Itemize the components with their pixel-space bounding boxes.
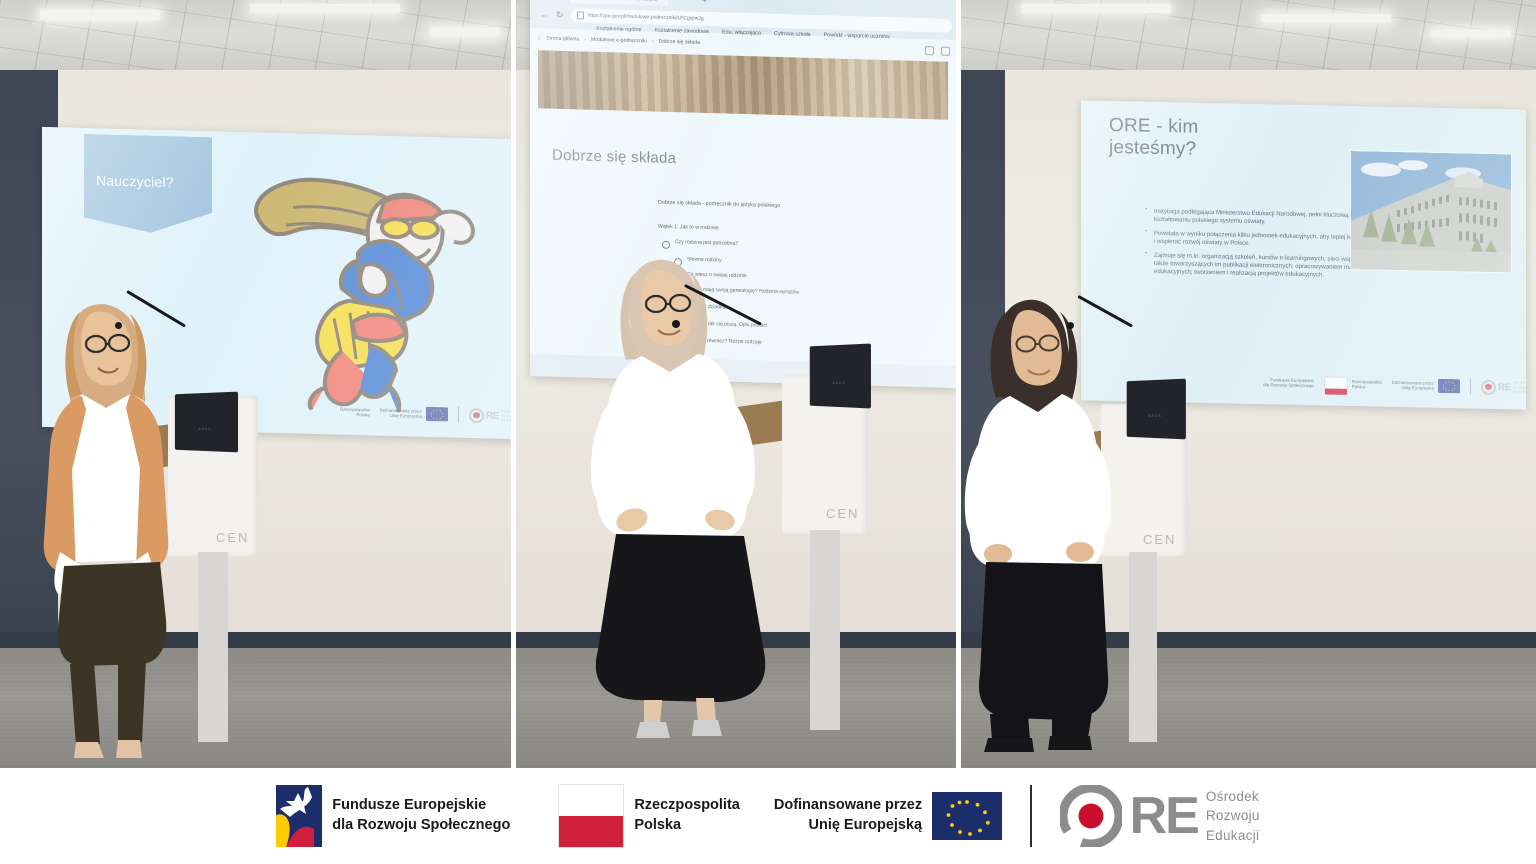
collage-stage: Nauczyciel? [0,0,1536,864]
ceiling [961,0,1536,78]
slide-title: Nauczyciel? [96,172,174,190]
ue-label: Dofinansowane przez Unię Europejską [774,796,922,835]
footer-logo-bar: Fundusze Europejskie dla Rozwoju Społecz… [0,768,1536,864]
poland-flag-icon [1324,376,1348,392]
panel-2: Zintegrowana Platforma Edukacyjna × + ← … [516,0,956,768]
back-icon[interactable]: ← [540,9,549,19]
logo-ore: RE Ośrodek Rozwoju Edukacji [1060,785,1260,847]
breadcrumb-home[interactable]: Strona główna [546,36,579,43]
reload-icon[interactable]: ↻ [556,9,564,20]
poland-flag-icon [558,784,624,848]
panel-1: Nauczyciel? [0,0,511,768]
tab-title: Zintegrowana Platforma Edukacyjna [583,0,657,2]
panel-3: ORE - kim jesteśmy? Instytucja podlegają… [961,0,1536,768]
section-heading: Wątek 1. Jak to w rodzinie [658,224,719,232]
ore-subtitle: Ośrodek Rozwoju Edukacji [1206,787,1260,846]
superhero-teacher-icon [238,158,478,414]
breadcrumb-current: Dobrze się składa [659,39,700,46]
bullet-3: Zajmuje się m.in. organizacją szkoleń, k… [1145,252,1385,280]
bullet-1: Instytucja podlegająca Ministerstwu Eduk… [1145,208,1385,228]
ore-wordmark: RE [1130,790,1198,842]
logo-rzeczpospolita-polska: Rzeczpospolita Polska [558,784,740,848]
page-title: Dobrze się składa [552,147,676,167]
lock-icon [577,11,584,19]
photo-collage: Nauczyciel? [0,0,1536,768]
ore-logo-icon: RE OśrodekRozwojuEdukacji [469,407,511,423]
eu-flag-icon [1438,379,1460,393]
footer-divider [1030,785,1032,847]
nav-item-powodz[interactable]: Powódź - wsparcie uczniów [824,32,890,54]
ceiling [0,0,511,78]
hero-banner-books [538,50,948,119]
fundusze-label: Fundusze Europejskie dla Rozwoju Społecz… [332,796,510,835]
slide-title: ORE - kim jesteśmy? [1109,115,1289,164]
eu-flag-icon [932,792,1002,840]
star-icon[interactable] [925,46,934,55]
ore-mark-icon [1060,785,1122,847]
ore-building-photo [1350,150,1512,273]
slide-bullets: Instytucja podlegająca Ministerstwu Eduk… [1105,207,1385,287]
fundusze-europejskie-flag-icon [276,785,322,847]
nav-item-edu-wlaczajaca[interactable]: Edu. włączająca [722,29,761,50]
page-lead: Dobrze się składa - podręcznik do języka… [658,200,780,209]
ore-logo-icon: RE OśrodekRozwojuEdukacji [1481,379,1526,395]
bullet-2: Powstała w wyniku połączenia kilku jedno… [1145,230,1385,250]
extensions-icon[interactable] [941,47,950,56]
logo-fundusze-europejskie: Fundusze Europejskie dla Rozwoju Społecz… [276,785,510,847]
nav-item-cyfrowa-szkola[interactable]: Cyfrowa szkoła [774,31,811,52]
eu-flag-icon [426,407,448,422]
lectern-brand: CEN [826,506,859,521]
polska-label: Rzeczpospolita Polska [634,796,740,835]
logo-dofinansowane-ue: Dofinansowane przez Unię Europejską [774,792,1002,840]
home-icon[interactable]: ⌂ [538,35,541,41]
url-text: https://zpe.gov.pl/modulowe-podreczniki/… [588,13,704,22]
slide-title-tag: Nauczyciel? [84,134,212,234]
close-tab-icon[interactable]: × [660,0,663,2]
new-tab-icon[interactable]: + [702,0,707,5]
